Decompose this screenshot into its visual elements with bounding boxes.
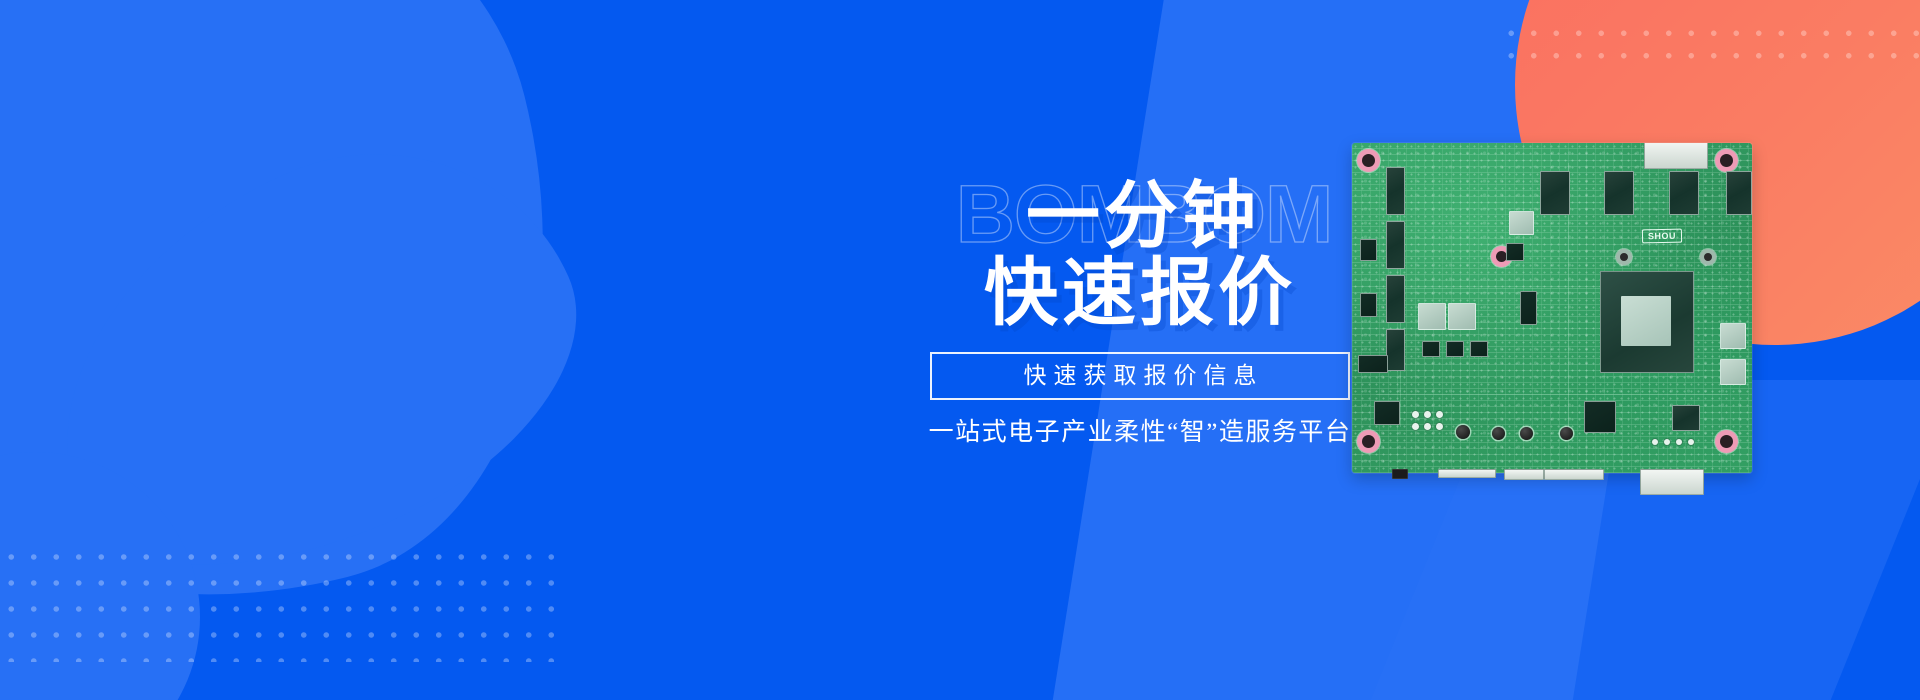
pcb-pad — [1436, 423, 1443, 430]
pcb-chip — [1446, 341, 1464, 357]
page-title: 一分钟 快速报价 — [930, 180, 1350, 328]
pcb-inductor — [1509, 211, 1534, 235]
promo-banner: BOMBOM 一分钟 快速报价 快速获取报价信息 一站式电子产业柔性“智”造服务… — [0, 0, 1920, 700]
pcb-chip — [1358, 355, 1388, 373]
pcb-pad — [1688, 439, 1694, 445]
pcb-pad — [1664, 439, 1670, 445]
pcb-silkscreen-label: SHOU — [1642, 229, 1682, 244]
pcb-board-image: SHOU — [1352, 143, 1752, 473]
pcb-edge-connector — [1504, 469, 1544, 480]
pcb-chip — [1386, 167, 1405, 215]
pcb-edge-connector — [1640, 469, 1704, 495]
headline-line-1: 一分钟 — [936, 180, 1350, 251]
pcb-pad — [1412, 411, 1419, 418]
pcb-inductor — [1448, 303, 1476, 330]
pcb-memory-chip — [1540, 171, 1570, 215]
pcb-processor — [1600, 271, 1694, 373]
pcb-chip — [1520, 291, 1537, 325]
pcb-chip — [1386, 221, 1405, 269]
pcb-chip — [1360, 239, 1377, 261]
pcb-capacitor — [1520, 427, 1533, 440]
pcb-substrate: SHOU — [1352, 143, 1752, 473]
pcb-inductor — [1418, 303, 1446, 330]
pcb-trace — [1376, 394, 1728, 395]
pcb-test-pad — [1704, 253, 1712, 261]
pcb-memory-chip — [1669, 171, 1699, 215]
dot-grid-top-right — [1500, 22, 1920, 68]
pcb-test-pad — [1620, 253, 1628, 261]
pcb-mounting-hole — [1720, 435, 1733, 448]
pcb-pad — [1424, 411, 1431, 418]
pcb-mounting-hole — [1362, 154, 1375, 167]
pcb-edge-connector — [1392, 469, 1408, 479]
pcb-chip — [1386, 329, 1405, 371]
pcb-memory-chip — [1604, 171, 1634, 215]
pcb-chip — [1422, 341, 1440, 357]
pcb-pad — [1424, 423, 1431, 430]
headline-text-block: BOMBOM 一分钟 快速报价 快速获取报价信息 一站式电子产业柔性“智”造服务… — [930, 180, 1350, 448]
pcb-pad — [1436, 411, 1443, 418]
pcb-pad — [1676, 439, 1682, 445]
pcb-edge-connector — [1438, 469, 1496, 478]
pcb-mounting-hole — [1362, 435, 1375, 448]
pcb-pad — [1412, 423, 1419, 430]
pcb-capacitor — [1492, 427, 1505, 440]
headline-line-2: 快速报价 — [930, 257, 1350, 328]
pcb-chip — [1506, 243, 1524, 261]
pcb-chip — [1386, 275, 1405, 323]
pcb-chip — [1672, 405, 1700, 431]
pcb-inductor — [1720, 359, 1746, 385]
pcb-chip — [1584, 401, 1616, 433]
tagline: 一站式电子产业柔性“智”造服务平台 — [870, 412, 1410, 448]
pcb-pad — [1652, 439, 1658, 445]
pcb-capacitor — [1560, 427, 1573, 440]
pcb-chip — [1470, 341, 1488, 357]
pcb-memory-chip — [1726, 171, 1752, 215]
pcb-edge-connector — [1544, 469, 1604, 480]
dot-grid-bottom-left — [0, 544, 560, 662]
subtitle-boxed-label: 快速获取报价信息 — [930, 352, 1350, 400]
pcb-card-slot-connector — [1644, 143, 1708, 169]
pcb-mounting-hole — [1720, 154, 1733, 167]
pcb-capacitor — [1456, 425, 1470, 439]
pcb-chip — [1374, 401, 1400, 425]
pcb-inductor — [1720, 323, 1746, 349]
pcb-chip — [1360, 293, 1377, 317]
